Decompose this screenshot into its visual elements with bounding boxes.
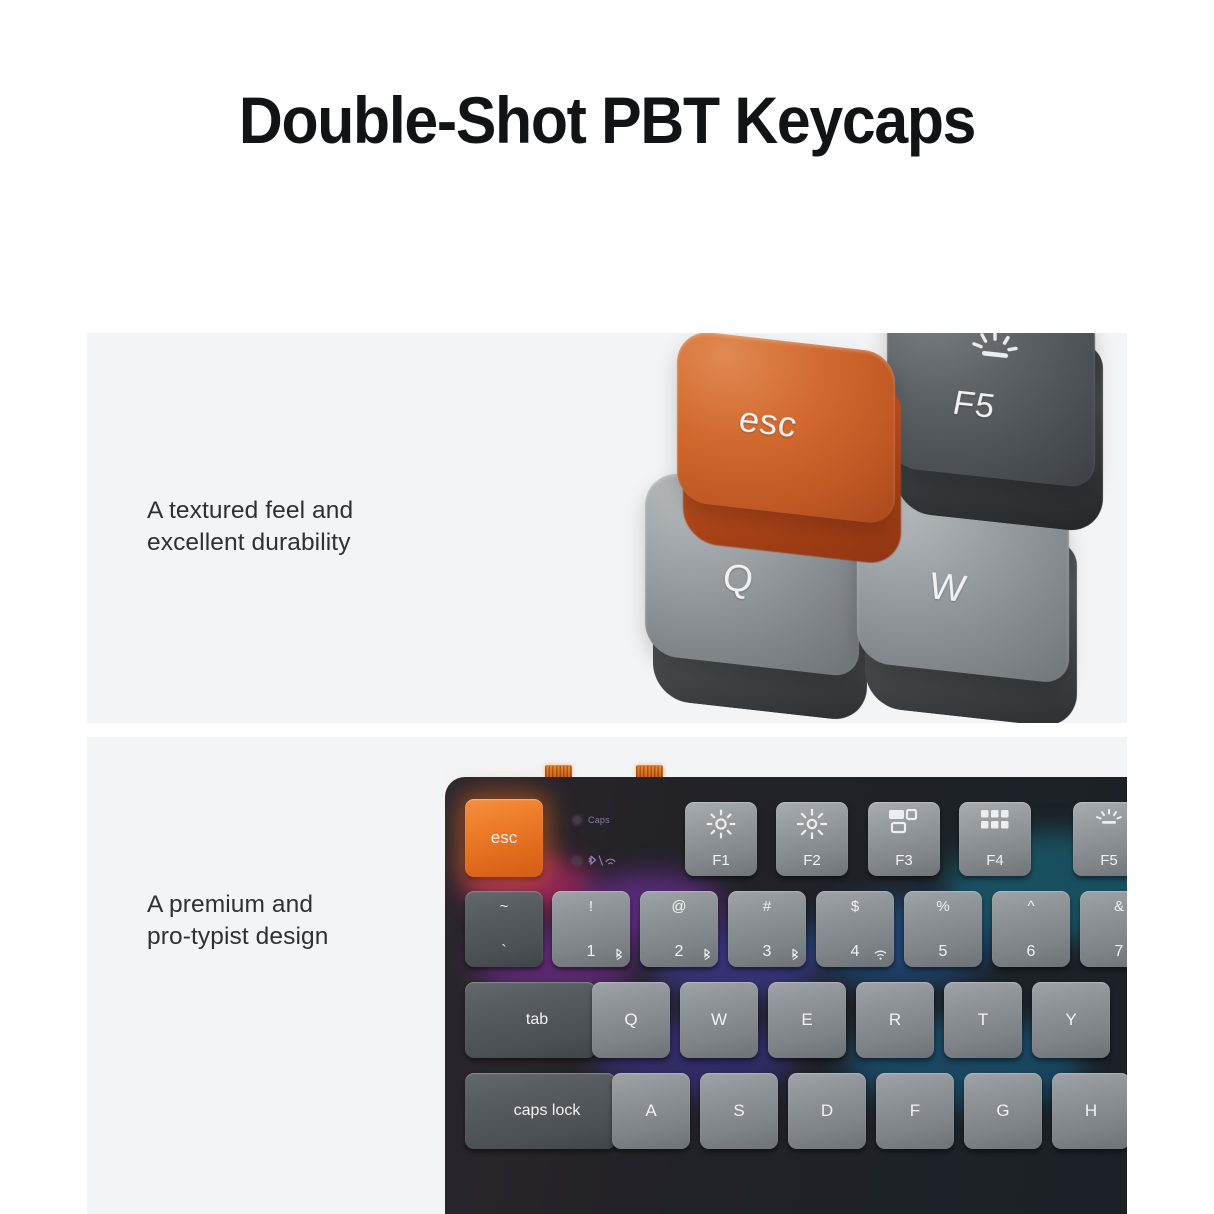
key-caps-lock-label: caps lock — [478, 1102, 616, 1120]
orange-tab-left — [545, 765, 572, 777]
key-esc-label: esc — [491, 828, 517, 848]
key-r[interactable]: R — [856, 982, 934, 1058]
key-6-base: 6 — [992, 943, 1070, 961]
key-q[interactable]: Q — [592, 982, 670, 1058]
wifi-icon — [874, 950, 887, 960]
key-f3-label: F3 — [868, 852, 940, 869]
key-a[interactable]: A — [612, 1073, 690, 1149]
key-f1-label: F1 — [685, 852, 757, 869]
key-f[interactable]: F — [876, 1073, 954, 1149]
feature-caption: A textured feel and excellent durability — [147, 495, 353, 559]
key-tilde[interactable]: ~ ` — [465, 891, 543, 967]
product-feature-page: Double-Shot PBT Keycaps A textured feel … — [0, 0, 1214, 1214]
key-2[interactable]: @ 2 — [640, 891, 718, 967]
key-t[interactable]: T — [944, 982, 1022, 1058]
key-1[interactable]: ! 1 — [552, 891, 630, 967]
keycap-f5-label: F5 — [953, 384, 995, 428]
key-4[interactable]: $ 4 — [816, 891, 894, 967]
keycap-esc: esc — [677, 333, 927, 587]
key-w[interactable]: W — [680, 982, 758, 1058]
bluetooth-icon — [703, 948, 711, 960]
key-f2[interactable]: F2 — [776, 802, 848, 876]
key-esc[interactable]: esc — [465, 799, 543, 877]
keycap-w-label: W — [929, 565, 965, 612]
key-f1[interactable]: F1 — [685, 802, 757, 876]
key-tilde-base: ` — [465, 943, 543, 961]
key-g-label: G — [996, 1101, 1009, 1121]
key-f5[interactable]: F5 — [1073, 802, 1127, 876]
key-3-shifted: # — [728, 898, 806, 915]
key-r-label: R — [889, 1010, 901, 1030]
key-f4[interactable]: F4 — [959, 802, 1031, 876]
key-1-shifted: ! — [552, 898, 630, 915]
key-3[interactable]: # 3 — [728, 891, 806, 967]
key-f4-label: F4 — [959, 852, 1031, 869]
page-title: Double-Shot PBT Keycaps — [49, 82, 1166, 158]
key-q-label: Q — [624, 1010, 637, 1030]
orange-tab-right — [636, 765, 663, 777]
key-2-shifted: @ — [640, 898, 718, 915]
bluetooth-icon — [615, 948, 623, 960]
key-h-label: H — [1085, 1101, 1097, 1121]
key-g[interactable]: G — [964, 1073, 1042, 1149]
key-f5-label: F5 — [1073, 852, 1127, 869]
key-tab[interactable]: tab — [465, 982, 596, 1058]
keyboard-illustration: esc Caps — [445, 755, 1127, 1214]
caps-indicator-dot — [573, 816, 581, 824]
key-5-base: 5 — [904, 943, 982, 961]
brightness-up-icon — [797, 809, 827, 839]
caps-indicator-label: Caps — [588, 815, 610, 825]
key-y[interactable]: Y — [1032, 982, 1110, 1058]
bluetooth-wifi-icon — [588, 855, 618, 866]
wireless-indicator-dot — [573, 857, 581, 865]
key-tab-label: tab — [478, 1011, 596, 1029]
keyboard-body: esc Caps — [445, 777, 1127, 1214]
backlight-icon — [1094, 809, 1124, 829]
key-w-label: W — [711, 1010, 727, 1030]
key-5[interactable]: % 5 — [904, 891, 982, 967]
key-7-base: 7 — [1080, 943, 1127, 961]
feature-caption: A premium and pro-typist design — [147, 889, 328, 953]
key-f-label: F — [910, 1101, 920, 1121]
bluetooth-icon — [791, 948, 799, 960]
key-5-shifted: % — [904, 898, 982, 915]
keycaps-closeup-illustration: Q W — [557, 333, 1117, 723]
caps-indicator: Caps — [573, 815, 610, 825]
brightness-down-icon — [706, 809, 736, 839]
key-f3[interactable]: F3 — [868, 802, 940, 876]
mission-control-icon — [888, 809, 920, 835]
feature-panel-textured-feel: A textured feel and excellent durability… — [87, 333, 1127, 723]
key-7-shifted: & — [1080, 898, 1127, 915]
key-a-label: A — [645, 1101, 656, 1121]
launchpad-icon — [980, 809, 1010, 831]
key-7[interactable]: & 7 — [1080, 891, 1127, 967]
wireless-indicator — [573, 855, 618, 866]
keycap-esc-label: esc — [739, 398, 797, 447]
key-t-label: T — [978, 1010, 988, 1030]
key-4-shifted: $ — [816, 898, 894, 915]
key-e[interactable]: E — [768, 982, 846, 1058]
key-d-label: D — [821, 1101, 833, 1121]
feature-panel-premium-design: A premium and pro-typist design esc — [87, 737, 1127, 1214]
key-d[interactable]: D — [788, 1073, 866, 1149]
key-6-shifted: ^ — [992, 898, 1070, 915]
key-h[interactable]: H — [1052, 1073, 1127, 1149]
backlight-icon — [967, 333, 1023, 367]
key-6[interactable]: ^ 6 — [992, 891, 1070, 967]
key-f2-label: F2 — [776, 852, 848, 869]
key-caps-lock[interactable]: caps lock — [465, 1073, 616, 1149]
key-s-label: S — [733, 1101, 744, 1121]
key-tilde-shifted: ~ — [465, 898, 543, 915]
key-s[interactable]: S — [700, 1073, 778, 1149]
key-e-label: E — [801, 1010, 812, 1030]
key-y-label: Y — [1065, 1010, 1076, 1030]
